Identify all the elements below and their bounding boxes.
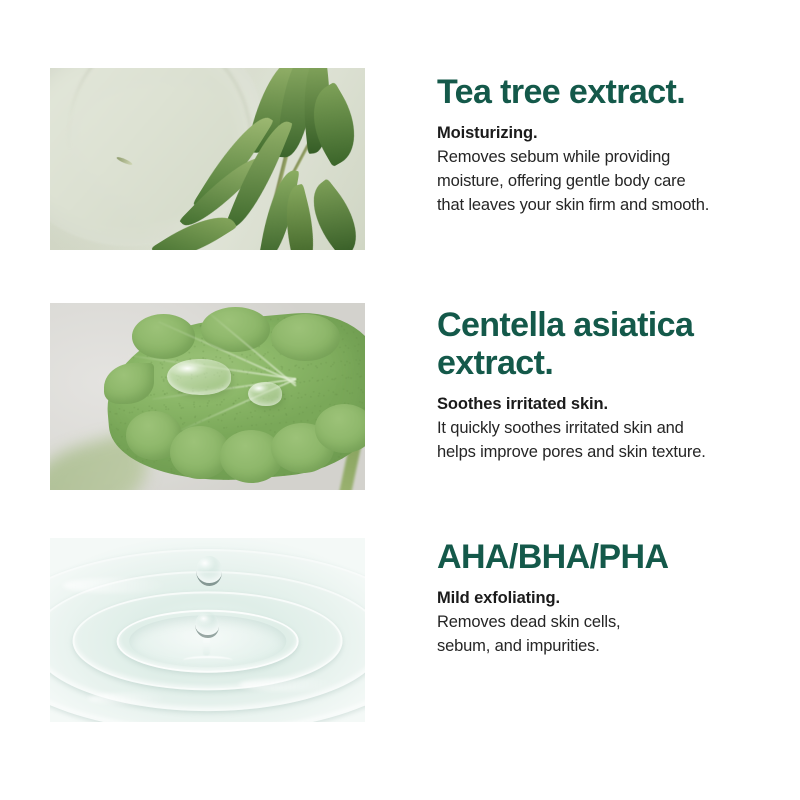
aha-bha-pha-copy-block: AHA/BHA/PHA Mild exfoliating. Removes de… <box>437 538 767 658</box>
section-subhead: Soothes irritated skin. <box>437 393 767 416</box>
section-tea-tree: Tea tree extract. Moisturizing. Removes … <box>0 68 800 250</box>
surface-highlight <box>88 693 170 704</box>
section-centella-asiatica: Centella asiatica extract. Soothes irrit… <box>0 303 800 490</box>
ingredient-benefits-infographic: Tea tree extract. Moisturizing. Removes … <box>0 0 800 800</box>
section-aha-bha-pha: AHA/BHA/PHA Mild exfoliating. Removes de… <box>0 538 800 722</box>
section-heading: Centella asiatica extract. <box>437 306 767 382</box>
leaf-lobe <box>271 314 340 361</box>
tea-tree-leaves-photo <box>50 68 365 250</box>
water-droplet-ripple-photo <box>50 538 365 722</box>
section-body: Removes dead skin cells, sebum, and impu… <box>437 610 767 658</box>
surface-highlight <box>239 678 340 691</box>
leaf-lobe <box>315 404 365 453</box>
section-body: Removes sebum while providing moisture, … <box>437 145 767 217</box>
leaf-lobe <box>132 314 195 359</box>
section-subhead: Moisturizing. <box>437 122 767 145</box>
section-heading: Tea tree extract. <box>437 73 767 111</box>
centella-leaf-photo <box>50 303 365 490</box>
water-droplet-small <box>248 382 282 406</box>
section-body: It quickly soothes irritated skin and he… <box>437 416 767 464</box>
water-droplet-large <box>167 359 231 395</box>
section-heading: AHA/BHA/PHA <box>437 538 767 576</box>
tea-tree-copy-block: Tea tree extract. Moisturizing. Removes … <box>437 73 767 217</box>
rebound-droplet <box>195 612 219 638</box>
section-subhead: Mild exfoliating. <box>437 587 767 610</box>
centella-copy-block: Centella asiatica extract. Soothes irrit… <box>437 306 767 464</box>
